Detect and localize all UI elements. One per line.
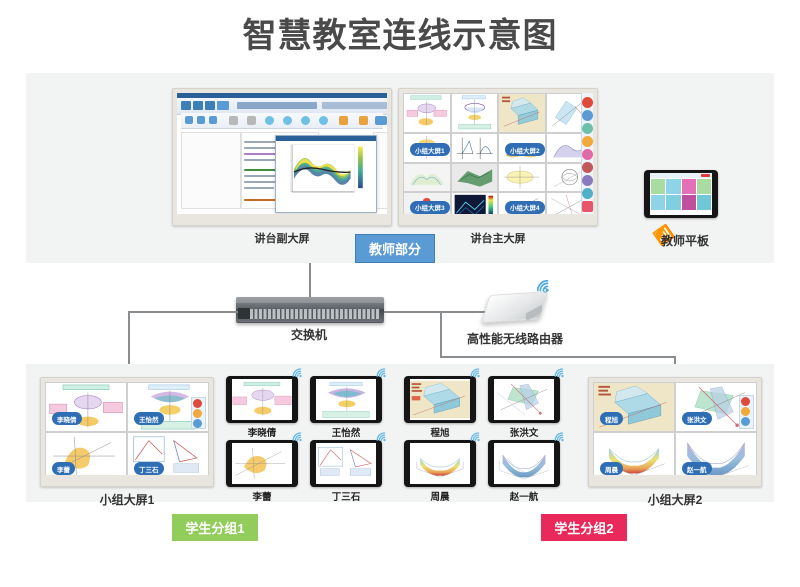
figure-window[interactable] [275, 135, 377, 213]
group1-screen-grid: 李晓倩 王怡然 李 [45, 382, 209, 482]
surface-thumb [452, 164, 498, 190]
link-switch-left [128, 311, 238, 313]
group2-quadrant-tag: 张洪文 [682, 412, 712, 425]
wifi-icon [374, 430, 388, 443]
planes-thumb [494, 379, 554, 420]
app-tile[interactable] [651, 195, 665, 210]
tile[interactable]: 小组大屏1 [403, 133, 451, 164]
diagram-thumb [452, 134, 498, 163]
tablet-screen [650, 173, 712, 215]
group1-big-screen-caption: 小组大屏1 [67, 491, 187, 508]
group2-quadrant[interactable]: 张洪文 [675, 382, 757, 432]
student-tablet-8[interactable] [488, 440, 560, 487]
ribbon-icon [209, 116, 217, 124]
wifi-arc-icon [534, 277, 552, 295]
ribbon-icon [185, 116, 193, 124]
rail-icon[interactable] [582, 97, 593, 108]
app-tile[interactable] [651, 179, 665, 194]
surface-thumb [316, 379, 376, 420]
group1-quadrant[interactable]: 李晓倩 [45, 382, 127, 432]
wifi-icon [374, 366, 388, 379]
switch-caption: 交换机 [259, 326, 359, 343]
wifi-icon [552, 366, 566, 379]
lectern-main-screen-caption: 讲台主大屏 [418, 230, 578, 246]
diagram-thumb [410, 379, 470, 420]
rail-icon[interactable] [193, 419, 202, 428]
app-tile[interactable] [697, 179, 711, 194]
rail-icon[interactable] [741, 397, 750, 406]
group2-big-screen[interactable]: 程旭 张洪文 [588, 377, 762, 487]
ribbon-icon [247, 116, 256, 125]
app-tile[interactable] [697, 195, 711, 210]
student-tablet-2-name: 王怡然 [310, 425, 382, 439]
network-switch-icon[interactable] [236, 297, 384, 323]
rail-icon[interactable] [741, 417, 750, 426]
tile[interactable] [451, 93, 499, 133]
switch-top [236, 297, 384, 303]
code-line [244, 187, 274, 189]
tile[interactable] [451, 163, 499, 191]
tile-tag: 小组大屏4 [505, 201, 545, 214]
student-tablet-5-name: 程旭 [404, 425, 476, 439]
wifi-icon [290, 366, 304, 379]
group2-quadrant-tag: 赵一航 [682, 462, 712, 475]
tablet-screen [494, 379, 554, 420]
router-caption: 高性能无线路由器 [445, 330, 585, 347]
rail-icon[interactable] [193, 409, 202, 418]
status-bar [45, 475, 209, 482]
rail-icon[interactable] [582, 149, 593, 160]
rail-icon[interactable] [193, 399, 202, 408]
app-tile[interactable] [682, 179, 696, 194]
diagram-thumb [452, 94, 498, 132]
rail-icon[interactable] [582, 123, 593, 134]
ribbon-icon [319, 116, 328, 125]
link-teacher-to-switch [309, 263, 311, 297]
quadrant-icon-rail[interactable] [191, 397, 206, 429]
tablet-screen [232, 443, 292, 484]
status-bar [177, 214, 387, 221]
page-title: 智慧教室连线示意图 [0, 8, 800, 57]
quadrant-icon-rail[interactable] [739, 395, 754, 429]
app-grid[interactable] [651, 179, 711, 210]
student-tablet-4[interactable] [310, 440, 382, 487]
close-icon[interactable] [701, 174, 710, 177]
wifi-icon [468, 366, 482, 379]
diagram-thumb [499, 94, 545, 132]
link-switch-to-group1 [128, 311, 130, 366]
student-tablet-2[interactable] [310, 376, 382, 423]
ribbon-icon [283, 116, 292, 125]
tile[interactable] [403, 93, 451, 133]
contour-thumb [404, 164, 450, 190]
student-tablet-6[interactable] [488, 376, 560, 423]
ribbon-icon [339, 116, 348, 125]
wifi-icon [552, 430, 566, 443]
link-router-down [440, 311, 442, 357]
lectern-main-screen[interactable]: 小组大屏1 小组大屏2 [398, 88, 598, 226]
switch-uplink-port [238, 308, 250, 319]
student-tablet-7-name: 周晨 [404, 489, 476, 503]
tile[interactable]: 小组大屏2 [498, 133, 546, 164]
group2-quadrant-tag: 周晨 [600, 462, 623, 475]
lectern-secondary-screen-caption: 讲台副大屏 [202, 230, 362, 246]
teacher-tablet[interactable] [644, 170, 718, 218]
main-screen-icon-rail[interactable] [581, 93, 593, 221]
tablet-screen [410, 379, 470, 420]
status-bar [593, 475, 757, 482]
ribbon-icon [265, 116, 274, 125]
group1-quadrant-tag: 王怡然 [134, 412, 164, 425]
group1-quadrant-tag: 丁三石 [134, 462, 164, 475]
group1-big-screen[interactable]: 李晓倩 王怡然 李 [40, 377, 214, 487]
diagram-thumb [232, 379, 292, 420]
tile-tag: 小组大屏3 [410, 201, 450, 214]
ribbon-icon [375, 116, 387, 125]
rail-icon[interactable] [582, 188, 593, 199]
wifi-icon [290, 430, 304, 443]
group2-screen-grid: 程旭 张洪文 [593, 382, 757, 482]
student-tablet-6-name: 张洪文 [488, 425, 560, 439]
ribbon-chip [217, 101, 229, 110]
ribbon-chip [205, 101, 215, 110]
surface-plot-3d [276, 141, 376, 207]
group2-big-screen-caption: 小组大屏2 [615, 491, 735, 508]
app-tile[interactable] [682, 195, 696, 210]
ribbon-chip [237, 102, 317, 109]
wifi-icon [468, 430, 482, 443]
tile[interactable] [451, 133, 499, 164]
tile-tag: 小组大屏1 [410, 143, 450, 156]
tile[interactable] [403, 163, 451, 191]
diagram-thumb [232, 443, 292, 484]
link-router-horizontal [440, 356, 675, 358]
teacher-tablet-caption: 教师平板 [630, 232, 740, 249]
diagram-thumb [404, 94, 450, 132]
tablet-screen [232, 379, 292, 420]
tablet-screen [316, 379, 376, 420]
tile[interactable] [498, 93, 546, 133]
tablet-screen [316, 443, 376, 484]
tile[interactable] [498, 163, 546, 191]
diagram-thumb [316, 443, 376, 484]
rail-icon[interactable] [582, 136, 593, 147]
ellipsoid-thumb [499, 164, 545, 190]
rail-icon[interactable] [582, 201, 593, 212]
status-bar [403, 214, 593, 221]
wireless-router-icon[interactable]: ∘ [484, 287, 546, 327]
matlab-window [177, 93, 387, 221]
app-tile[interactable] [666, 179, 680, 194]
student-tablet-1[interactable] [226, 376, 298, 423]
ribbon-icon [359, 116, 368, 125]
group1-quadrant-tag: 李蕾 [52, 462, 75, 475]
student-tablet-3-name: 李蕾 [226, 489, 298, 503]
rail-icon[interactable] [582, 162, 593, 173]
student-tablet-5[interactable] [404, 376, 476, 423]
rail-icon[interactable] [582, 175, 593, 186]
student-tablet-8-name: 赵一航 [488, 489, 560, 503]
group1-quadrant[interactable]: 王怡然 [127, 382, 209, 432]
ribbon-chip [322, 102, 387, 109]
group2-quadrant-tag: 程旭 [600, 412, 623, 425]
ribbon-icon [301, 116, 310, 125]
group2-quadrant[interactable]: 程旭 [593, 382, 675, 432]
student-tablet-3[interactable] [226, 440, 298, 487]
rail-icon[interactable] [741, 407, 750, 416]
surface-warm-thumb [410, 443, 470, 484]
link-switch-to-router [384, 311, 486, 313]
app-tile[interactable] [666, 195, 680, 210]
lectern-secondary-screen[interactable] [172, 88, 392, 226]
group1-badge: 学生分组1 [172, 514, 258, 541]
ribbon-icon [197, 116, 205, 124]
ribbon-chip [193, 101, 203, 110]
student-tablet-7[interactable] [404, 440, 476, 487]
group1-quadrant-tag: 李晓倩 [52, 412, 82, 425]
tile-tag: 小组大屏2 [505, 143, 545, 156]
surface-cool-thumb [494, 443, 554, 484]
ribbon-chip [181, 101, 191, 110]
switch-ports [250, 309, 380, 319]
tablet-screen [410, 443, 470, 484]
file-browser-pane [181, 132, 241, 209]
group2-badge: 学生分组2 [541, 514, 627, 541]
teacher-section-badge: 教师部分 [355, 234, 435, 263]
main-screen-tile-grid: 小组大屏1 小组大屏2 [403, 93, 593, 221]
student-tablet-1-name: 李晓倩 [226, 425, 298, 439]
rail-icon[interactable] [582, 110, 593, 121]
tablet-screen [494, 443, 554, 484]
ribbon-icon [229, 116, 238, 125]
student-tablet-4-name: 丁三石 [310, 489, 382, 503]
